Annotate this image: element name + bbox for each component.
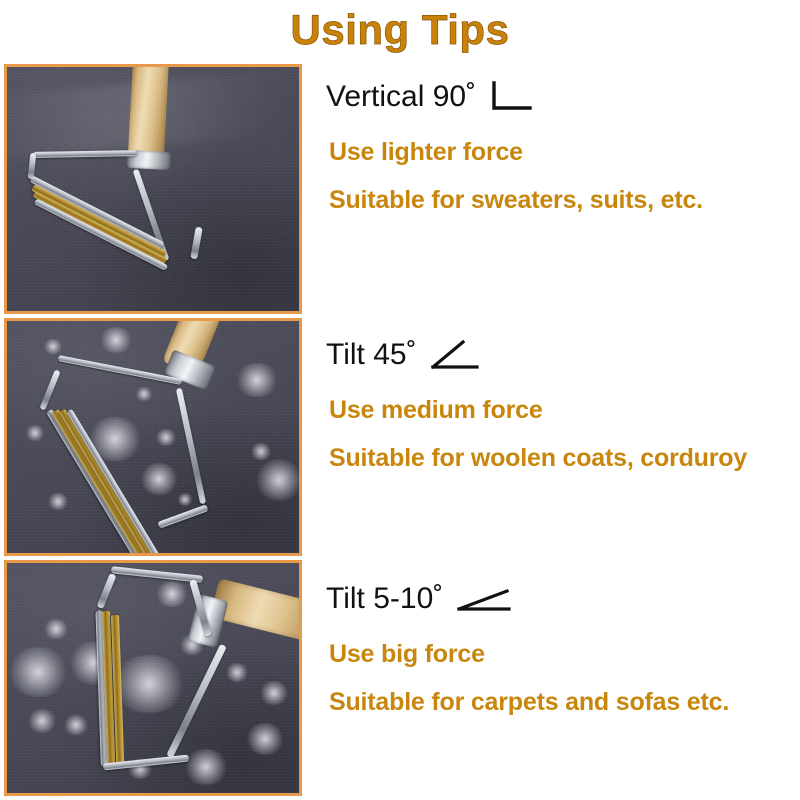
lint-speck bbox=[47, 493, 69, 510]
tip-force-line: Use lighter force bbox=[329, 138, 523, 167]
lint-speck bbox=[135, 387, 153, 401]
tip-photo-panel bbox=[4, 318, 302, 556]
lint-speck bbox=[255, 459, 302, 501]
tip-text-block: Vertical 90˚ Use lighter force Suitable … bbox=[326, 64, 800, 314]
lint-speck bbox=[259, 681, 289, 705]
tip-force-line: Use big force bbox=[329, 640, 485, 669]
lint-speck bbox=[155, 429, 177, 446]
lint-speck bbox=[183, 749, 229, 785]
tool-wood-handle bbox=[128, 64, 170, 158]
fabric-texture bbox=[7, 321, 299, 553]
tip-heading-label: Vertical 90˚ bbox=[326, 80, 476, 114]
fabric-background bbox=[7, 563, 299, 793]
tip-heading: Vertical 90˚ bbox=[326, 80, 534, 114]
right-angle-90-icon bbox=[488, 80, 534, 114]
tip-row: Vertical 90˚ Use lighter force Suitable … bbox=[0, 64, 800, 314]
lint-speck bbox=[43, 619, 69, 639]
lint-speck bbox=[235, 363, 279, 397]
lint-speck bbox=[225, 663, 249, 682]
lint-speck bbox=[155, 581, 189, 607]
tip-suitable-line: Suitable for woolen coats, corduroy bbox=[329, 444, 747, 473]
lint-speck bbox=[25, 425, 45, 441]
tip-text-block: Tilt 45˚ Use medium force Suitable for w… bbox=[326, 318, 800, 556]
lint-speck bbox=[43, 339, 63, 354]
tip-suitable-line: Suitable for sweaters, suits, etc. bbox=[329, 186, 703, 215]
lint-speck bbox=[111, 655, 187, 713]
lint-speck bbox=[177, 493, 193, 506]
tip-photo-panel bbox=[4, 64, 302, 314]
tip-text-block: Tilt 5-10˚ Use big force Suitable for ca… bbox=[326, 560, 800, 796]
tip-force-line: Use medium force bbox=[329, 396, 543, 425]
tip-heading: Tilt 5-10˚ bbox=[326, 582, 515, 616]
lint-speck bbox=[245, 723, 285, 755]
angle-5-10-icon bbox=[455, 582, 515, 616]
lint-speck bbox=[7, 647, 69, 697]
page-title: Using Tips bbox=[0, 2, 800, 58]
lint-speck bbox=[63, 715, 89, 735]
fabric-background bbox=[7, 67, 299, 311]
tip-suitable-line: Suitable for carpets and sofas etc. bbox=[329, 688, 729, 717]
lint-speck bbox=[250, 443, 272, 460]
angle-45-icon bbox=[429, 338, 481, 372]
lint-speck bbox=[139, 463, 179, 495]
tip-photo-panel bbox=[4, 560, 302, 796]
lint-speck bbox=[99, 327, 133, 353]
tip-heading-label: Tilt 5-10˚ bbox=[326, 582, 443, 616]
tip-row: Tilt 45˚ Use medium force Suitable for w… bbox=[0, 318, 800, 556]
tip-heading: Tilt 45˚ bbox=[326, 338, 481, 372]
fabric-background bbox=[7, 321, 299, 553]
tip-row: Tilt 5-10˚ Use big force Suitable for ca… bbox=[0, 560, 800, 796]
lint-speck bbox=[27, 709, 57, 733]
tip-heading-label: Tilt 45˚ bbox=[326, 338, 417, 372]
